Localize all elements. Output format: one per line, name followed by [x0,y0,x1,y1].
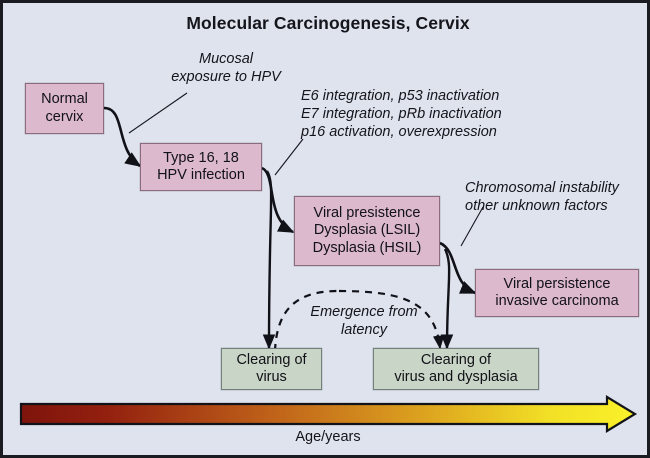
axis-label: Age/years [3,429,650,445]
annotation-integration-events: E6 integration, p53 inactivation E7 inte… [301,87,551,141]
annotation-mucosal-exposure: Mucosal exposure to HPV [151,50,301,86]
node-normal-cervix-label: Normal cervix [41,91,88,125]
arrow-presistence-to-clearing-dysplasia [445,249,449,348]
node-clearing-virus-label: Clearing of virus [236,352,306,386]
figure-title: Molecular Carcinogenesis, Cervix [3,13,650,34]
node-hpv-infection[interactable]: Type 16, 18 HPV infection [140,143,262,191]
node-invasive-carcinoma-label: Viral persistence invasive carcinoma [495,276,618,310]
node-hpv-infection-label: Type 16, 18 HPV infection [157,150,245,184]
age-gradient-arrow [21,397,635,431]
arrow-normal-to-infection [104,108,140,166]
node-clearing-virus-dysplasia-label: Clearing of virus and dysplasia [394,352,517,386]
leader-line-integration [275,139,303,175]
node-viral-presistence-label: Viral presistence Dysplasia (LSIL) Dyspl… [313,205,422,256]
annotation-emergence-from-latency: Emergence from latency [284,303,444,339]
arrow-infection-to-presistence [262,168,293,232]
arrow-presistence-to-carcinoma [440,243,475,293]
node-normal-cervix[interactable]: Normal cervix [25,83,104,134]
node-invasive-carcinoma[interactable]: Viral persistence invasive carcinoma [475,269,639,317]
annotation-chromosomal-instability: Chromosomal instability other unknown fa… [465,179,650,215]
leader-line-mucosal [129,93,187,133]
node-clearing-virus[interactable]: Clearing of virus [221,348,322,390]
node-clearing-virus-dysplasia[interactable]: Clearing of virus and dysplasia [373,348,539,390]
figure-canvas: Molecular Carcinogenesis, Cervix [0,0,650,458]
node-viral-presistence[interactable]: Viral presistence Dysplasia (LSIL) Dyspl… [294,196,440,266]
arrow-infection-to-clearing-virus [267,171,271,348]
